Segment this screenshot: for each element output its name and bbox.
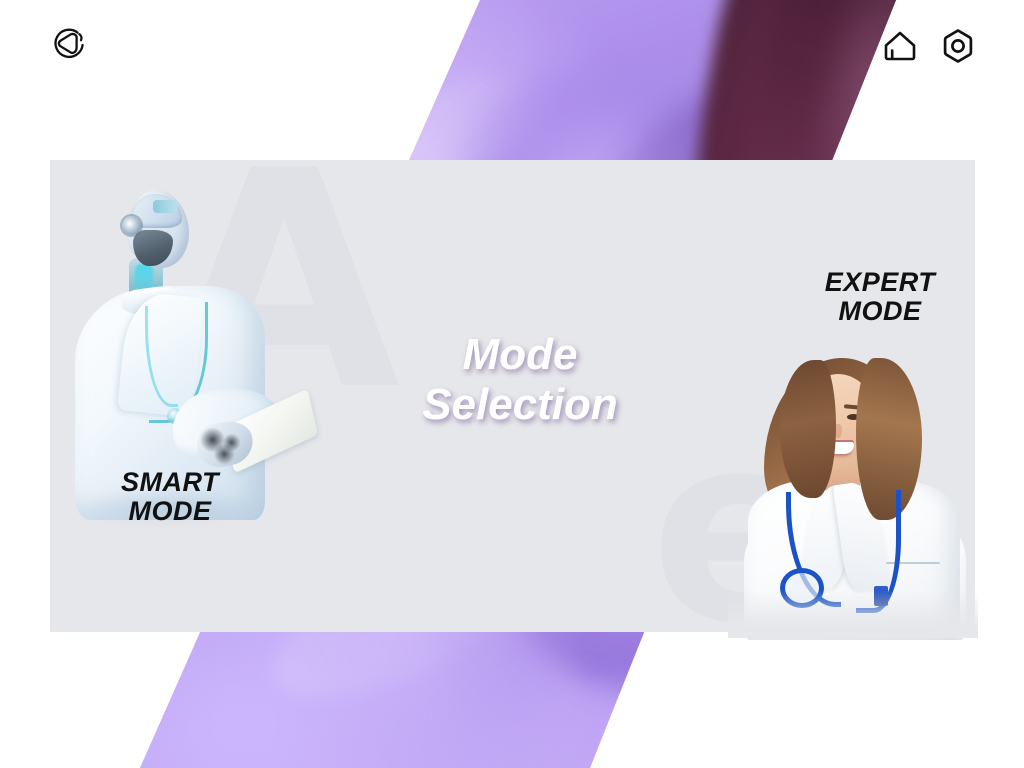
robot-visor (153, 200, 177, 213)
home-icon (878, 24, 922, 68)
doctor-bottom-fade (728, 590, 978, 638)
hex-settings-icon (936, 24, 980, 68)
expert-mode-doctor-figure[interactable] (728, 358, 978, 632)
expert-mode-label[interactable]: EXPERT MODE (780, 268, 980, 325)
smart-mode-label[interactable]: SMART MODE (60, 468, 280, 525)
back-circle-icon (46, 22, 92, 68)
mode-selection-screen: A e SMART MODE EXPERT MODE (0, 0, 1024, 768)
doctor-hair-front-left (780, 360, 836, 498)
back-button[interactable] (46, 22, 92, 68)
robot-ear-module (122, 216, 141, 235)
settings-button[interactable] (936, 24, 980, 68)
page-title: Mode Selection (380, 330, 660, 430)
home-button[interactable] (878, 24, 922, 68)
